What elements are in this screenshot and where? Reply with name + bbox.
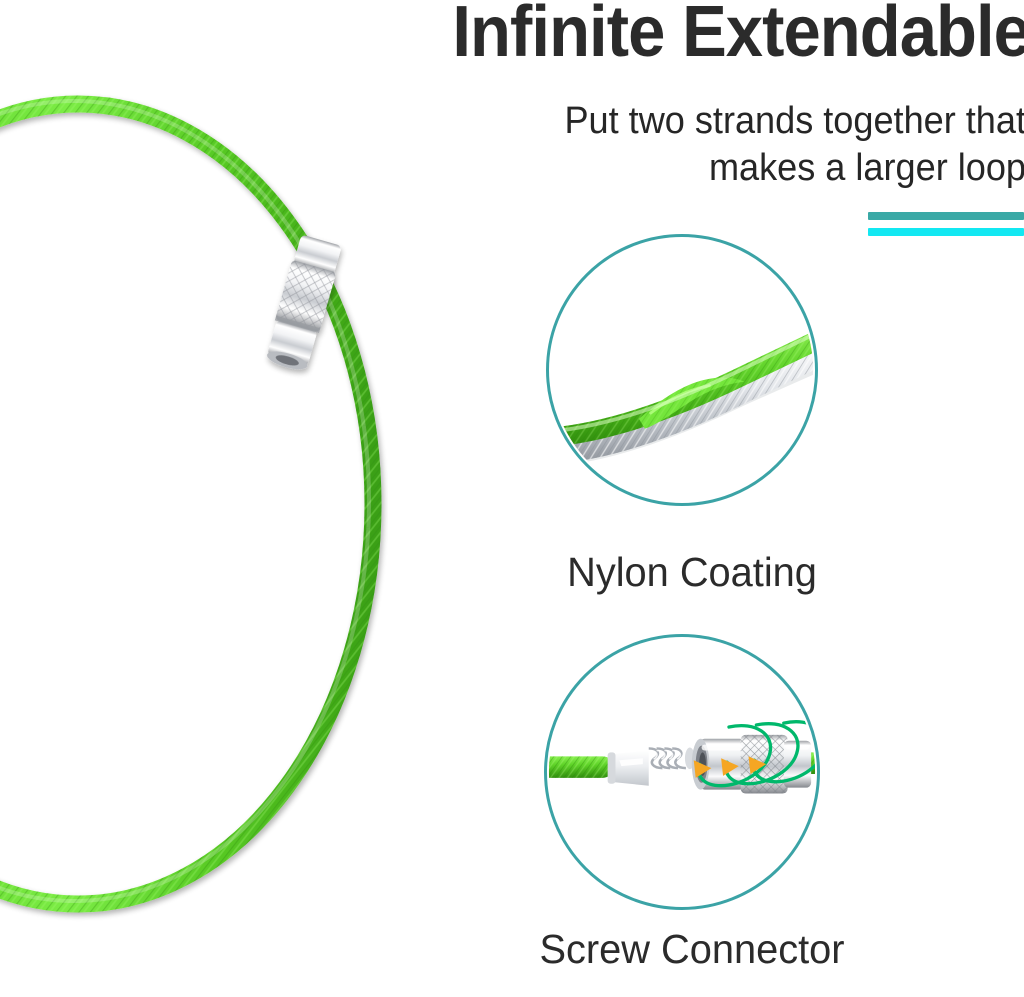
callout-screw-connector: [544, 634, 820, 910]
accent-rule-teal: [868, 212, 1024, 220]
nylon-coating-illustration: [549, 237, 815, 503]
callout-nylon-coating: [546, 234, 818, 506]
cable-loop-illustration: [0, 52, 388, 957]
product-infographic: Infinite Extendable Put two strands toge…: [0, 0, 1024, 997]
subtitle-line-2: makes a larger loop: [460, 145, 1024, 192]
subtitle-line-1: Put two strands together that: [460, 98, 1024, 145]
callout-circle-nylon: [546, 234, 818, 506]
accent-rule-cyan: [868, 228, 1024, 236]
hero-product-image: [0, 52, 388, 957]
screw-connector-illustration: [547, 637, 817, 907]
cable-ring: [0, 101, 373, 904]
callout-label-screw-connector: Screw Connector: [440, 925, 944, 973]
threaded-male-end: [547, 748, 695, 786]
callout-circle-screw: [544, 634, 820, 910]
subtitle: Put two strands together that makes a la…: [460, 98, 1024, 192]
callout-label-nylon-coating: Nylon Coating: [440, 548, 944, 596]
page-title: Infinite Extendable: [258, 0, 1024, 70]
